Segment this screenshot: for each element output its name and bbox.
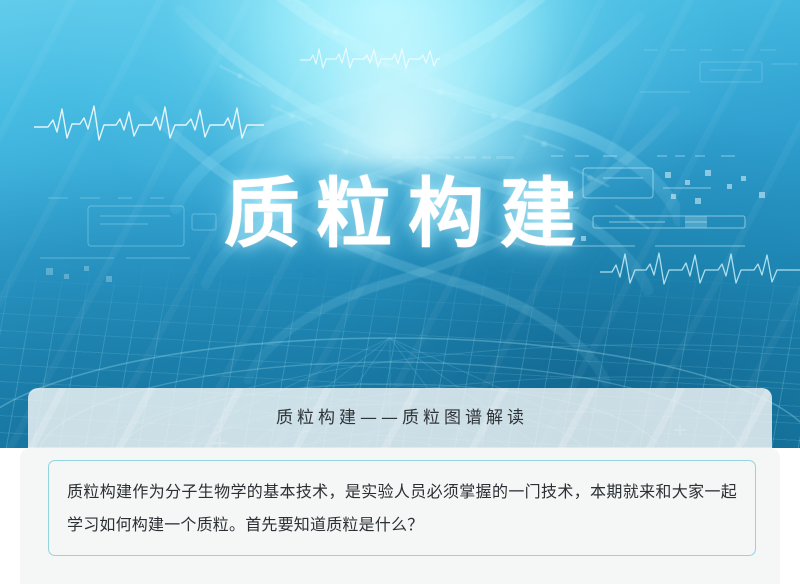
hero-banner: 质粒构建 质粒构建——质粒图谱解读: [0, 0, 800, 448]
page-title: 质粒构建: [0, 166, 800, 262]
hud-label-icon: [392, 150, 522, 166]
page-root: 质粒构建 质粒构建——质粒图谱解读 质粒构建作为分子生物学的基本技术，是实验人员…: [0, 0, 800, 584]
content-panel: 质粒构建作为分子生物学的基本技术，是实验人员必须掌握的一门技术，本期就来和大家一…: [20, 448, 780, 584]
hud-panel-icon: [640, 40, 800, 100]
section-band-card: 质粒构建——质粒图谱解读: [28, 388, 772, 448]
ecg-waveform-icon: [300, 44, 440, 72]
ecg-waveform-icon: [34, 100, 264, 146]
section-subtitle: 质粒构建——质粒图谱解读: [28, 388, 772, 448]
intro-callout-box: 质粒构建作为分子生物学的基本技术，是实验人员必须掌握的一门技术，本期就来和大家一…: [48, 460, 756, 556]
intro-paragraph: 质粒构建作为分子生物学的基本技术，是实验人员必须掌握的一门技术，本期就来和大家一…: [67, 475, 737, 541]
